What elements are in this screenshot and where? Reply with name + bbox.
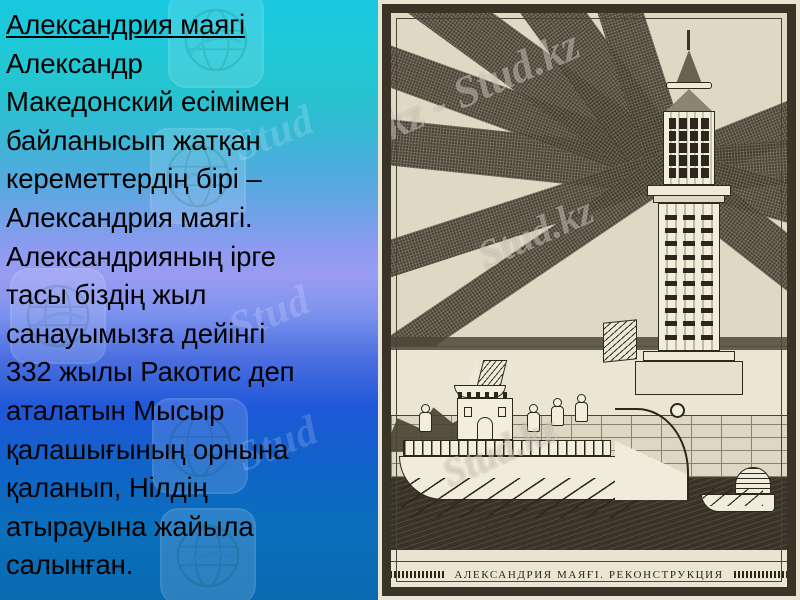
lighthouse-tower	[629, 30, 749, 395]
body-line-14: салынған.	[6, 546, 372, 585]
lighthouse-ring	[666, 82, 712, 89]
dock-figure	[419, 404, 432, 432]
lighthouse-podium	[635, 361, 743, 395]
slide-title: Александрия маягі	[6, 6, 372, 45]
dock-figure	[575, 394, 588, 422]
dock-figure	[551, 398, 564, 426]
plate-frame: kz - Stud.kz Stud.kz Stud.kz АЛЕКСАНДРИЯ…	[382, 4, 796, 596]
body-line-1: Александр	[6, 45, 372, 84]
lighthouse-finial	[687, 30, 690, 50]
small-sailboat	[454, 352, 512, 398]
lighthouse-lantern	[663, 111, 715, 185]
lighthouse-staircase	[603, 319, 637, 363]
body-line-3: байланысып жатқан	[6, 122, 372, 161]
galley-deck-cabin	[457, 398, 513, 440]
body-line-11: қалашығының орнына	[6, 431, 372, 470]
body-line-5: Александрия маягі.	[6, 199, 372, 238]
small-rowboat	[701, 456, 775, 512]
lighthouse-roof	[666, 89, 712, 111]
engraving-plate: kz - Stud.kz Stud.kz Stud.kz АЛЕКСАНДРИЯ…	[378, 0, 800, 600]
body-line-10: аталатын Мысыр	[6, 392, 372, 431]
lighthouse-spire	[676, 50, 702, 84]
caption-rule-right	[734, 571, 787, 578]
cabin-window	[498, 407, 506, 417]
illustration-caption: АЛЕКСАНДРИЯ МАЯҒІ. РЕКОНСТРУКЦИЯ	[454, 569, 723, 581]
lighthouse-shaft	[658, 203, 720, 351]
prow-ornament	[670, 403, 685, 418]
cabin-door	[477, 417, 493, 439]
galley-prow	[615, 408, 689, 500]
sailboat-sail-front	[467, 356, 478, 386]
dock-figure	[527, 404, 540, 432]
lighthouse-cornice-lower	[653, 196, 725, 203]
body-line-7: тасы біздің жыл	[6, 276, 372, 315]
ancient-galley-ship	[399, 398, 689, 518]
lantern-windows	[669, 118, 709, 178]
body-line-6: Александрияның ірге	[6, 238, 372, 277]
presentation-slide: Stud Stud	[0, 0, 800, 600]
body-line-4: кереметтердің бірі –	[6, 160, 372, 199]
lighthouse-base-cornice	[643, 351, 735, 361]
plate-inner: kz - Stud.kz Stud.kz Stud.kz АЛЕКСАНДРИЯ…	[391, 13, 787, 587]
lighthouse-cornice	[647, 185, 731, 196]
body-line-2: Македонский есімімен	[6, 83, 372, 122]
caption-rule-left	[391, 571, 444, 578]
cabin-window	[464, 407, 472, 417]
body-line-9: 332 жылы Ракотис деп	[6, 353, 372, 392]
text-panel: Stud Stud	[0, 0, 378, 600]
rowboat-oars	[703, 488, 763, 506]
galley-oars	[401, 478, 637, 518]
cabin-battlements	[458, 392, 512, 399]
body-line-12: қаланып, Нілдің	[6, 469, 372, 508]
body-line-13: атырауына жайыла	[6, 508, 372, 547]
body-line-8: санауымызға дейінгі	[6, 315, 372, 354]
sailboat-sail-main	[477, 360, 507, 386]
galley-deck-railing	[403, 440, 611, 456]
illustration-panel: kz - Stud.kz Stud.kz Stud.kz АЛЕКСАНДРИЯ…	[378, 0, 800, 600]
shaft-windows	[665, 212, 713, 342]
illustration-caption-bar: АЛЕКСАНДРИЯ МАЯҒІ. РЕКОНСТРУКЦИЯ	[391, 561, 787, 587]
slide-text-block: Александрия маягі Александр Македонский …	[0, 0, 378, 585]
